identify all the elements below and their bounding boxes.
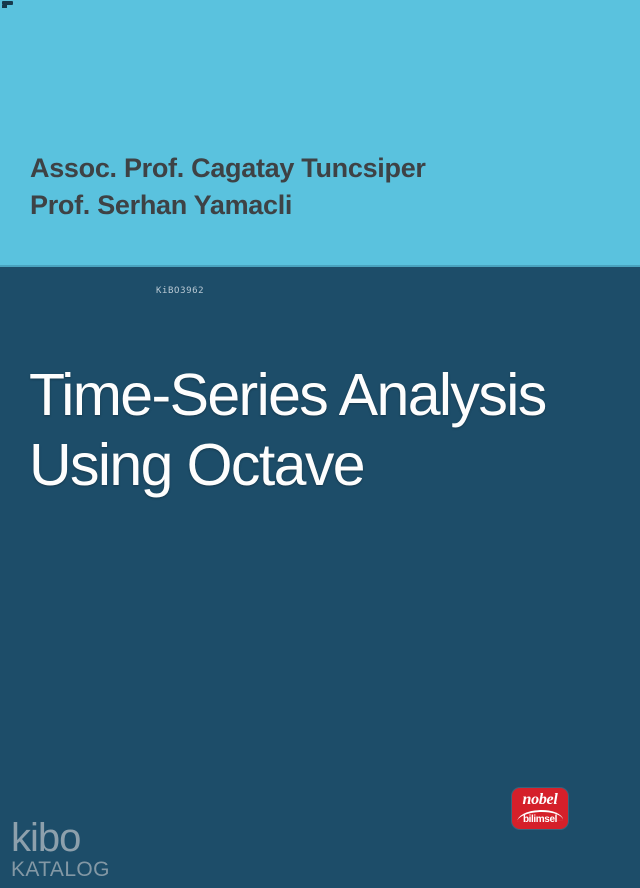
page-title: Time-Series Analysis Using Octave <box>29 360 629 500</box>
publisher-subtitle: bilimsel <box>512 814 568 825</box>
title-line-2: Using Octave <box>29 430 629 500</box>
catalog-code: KiBO3962 <box>156 286 204 296</box>
publisher-name: nobel <box>512 792 568 808</box>
book-cover: Assoc. Prof. Cagatay Tuncsiper Prof. Ser… <box>0 0 640 888</box>
watermark-subtitle: KATALOG <box>11 858 110 882</box>
scan-artifact-icon <box>2 1 13 5</box>
author-name-primary: Assoc. Prof. Cagatay Tuncsiper <box>30 150 590 187</box>
author-block: Assoc. Prof. Cagatay Tuncsiper Prof. Ser… <box>30 150 590 224</box>
watermark-brand: kibo <box>11 818 110 858</box>
publisher-logo: nobel bilimsel <box>512 788 568 829</box>
title-line-1: Time-Series Analysis <box>29 360 629 430</box>
watermark: kibo KATALOG <box>11 818 110 882</box>
author-name-secondary: Prof. Serhan Yamacli <box>30 187 590 224</box>
cover-top-band <box>0 0 640 267</box>
